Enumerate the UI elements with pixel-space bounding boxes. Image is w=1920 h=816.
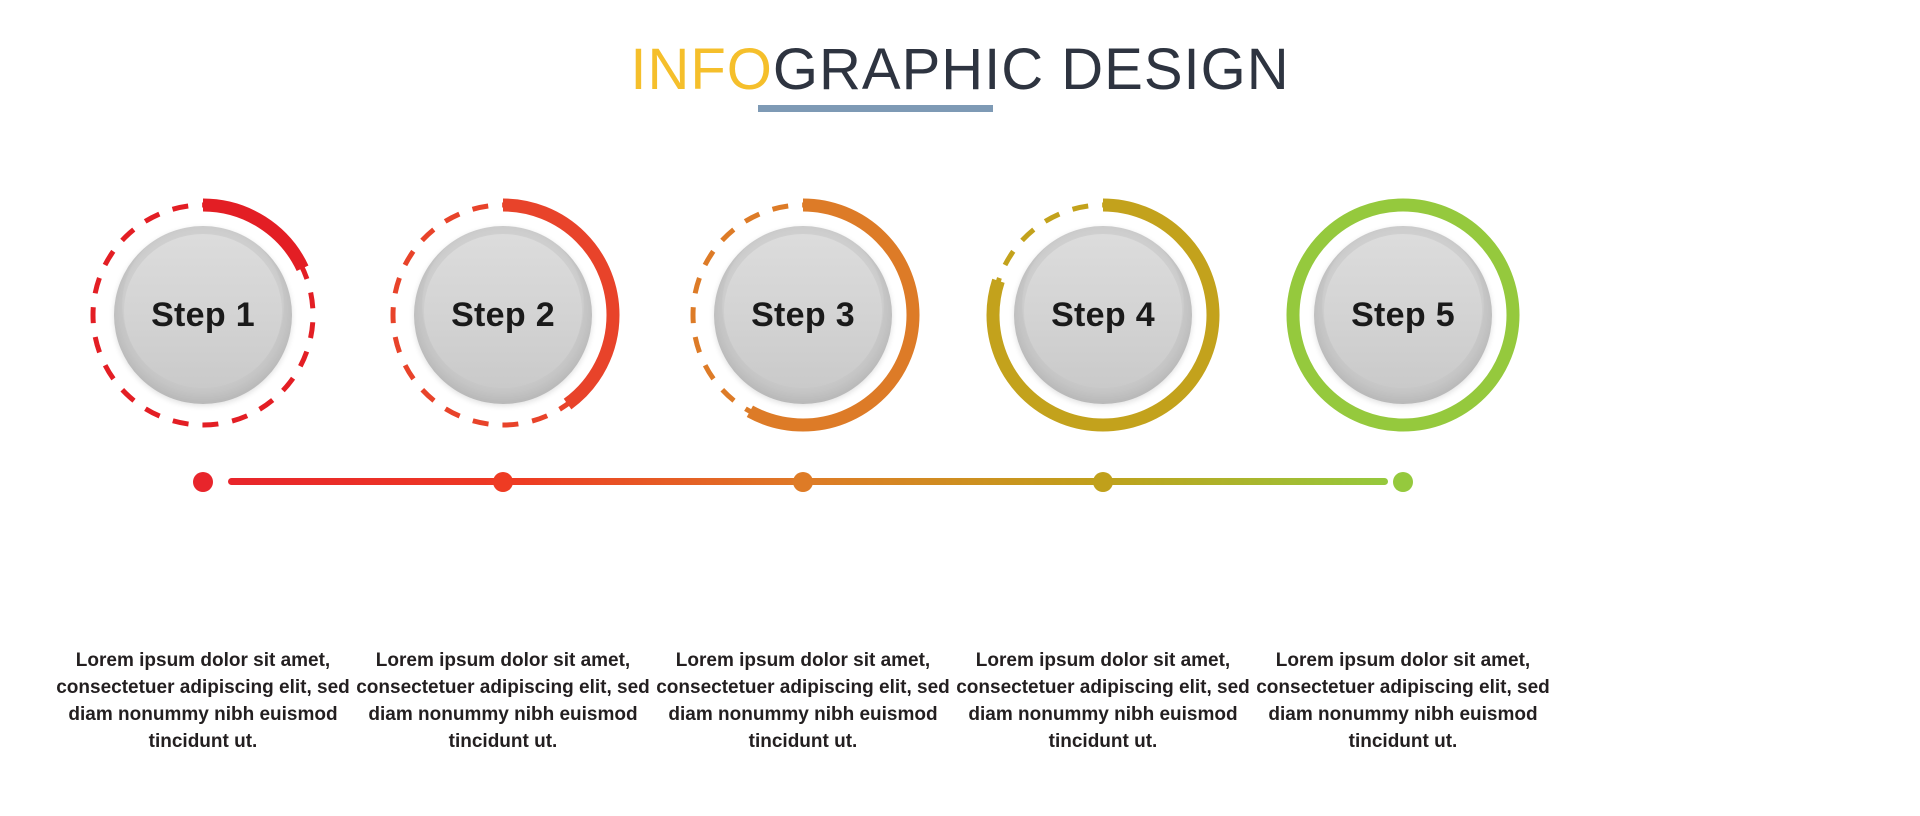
step-circle-3[interactable]: Step 3 [678, 190, 928, 440]
step-caption-4: Lorem ipsum dolor sit amet, consectetuer… [953, 648, 1253, 756]
infographic-canvas: INFOGRAPHIC DESIGN Step 1Step 2Step 3Ste… [0, 0, 1920, 816]
page-title: INFOGRAPHIC DESIGN [630, 40, 1289, 101]
step-label-3: Step 3 [751, 296, 855, 335]
step-ball-3: Step 3 [714, 226, 892, 404]
step-circle-4[interactable]: Step 4 [978, 190, 1228, 440]
page-title-rest: GRAPHIC DESIGN [773, 37, 1290, 102]
step-label-2: Step 2 [451, 296, 555, 335]
page-title-highlight: INFO [630, 37, 773, 102]
step-caption-5: Lorem ipsum dolor sit amet, consectetuer… [1253, 648, 1553, 756]
connector-dot-4[interactable] [1093, 472, 1113, 492]
step-ball-5: Step 5 [1314, 226, 1492, 404]
step-ball-2: Step 2 [414, 226, 592, 404]
connector-dot-3[interactable] [793, 472, 813, 492]
step-caption-1: Lorem ipsum dolor sit amet, consectetuer… [53, 648, 353, 756]
step-caption-3: Lorem ipsum dolor sit amet, consectetuer… [653, 648, 953, 756]
progress-connector [0, 466, 1920, 496]
step-circle-2[interactable]: Step 2 [378, 190, 628, 440]
step-circle-1[interactable]: Step 1 [78, 190, 328, 440]
step-ball-4: Step 4 [1014, 226, 1192, 404]
step-circle-5[interactable]: Step 5 [1278, 190, 1528, 440]
connector-dot-2[interactable] [493, 472, 513, 492]
connector-dot-5[interactable] [1393, 472, 1413, 492]
page-title-container: INFOGRAPHIC DESIGN [0, 40, 1920, 101]
title-underline [758, 105, 993, 112]
step-label-4: Step 4 [1051, 296, 1155, 335]
connector-dot-1[interactable] [193, 472, 213, 492]
step-label-5: Step 5 [1351, 296, 1455, 335]
step-caption-2: Lorem ipsum dolor sit amet, consectetuer… [353, 648, 653, 756]
step-ball-1: Step 1 [114, 226, 292, 404]
step-label-1: Step 1 [151, 296, 255, 335]
steps-row: Step 1Step 2Step 3Step 4Step 5 [0, 190, 1920, 440]
